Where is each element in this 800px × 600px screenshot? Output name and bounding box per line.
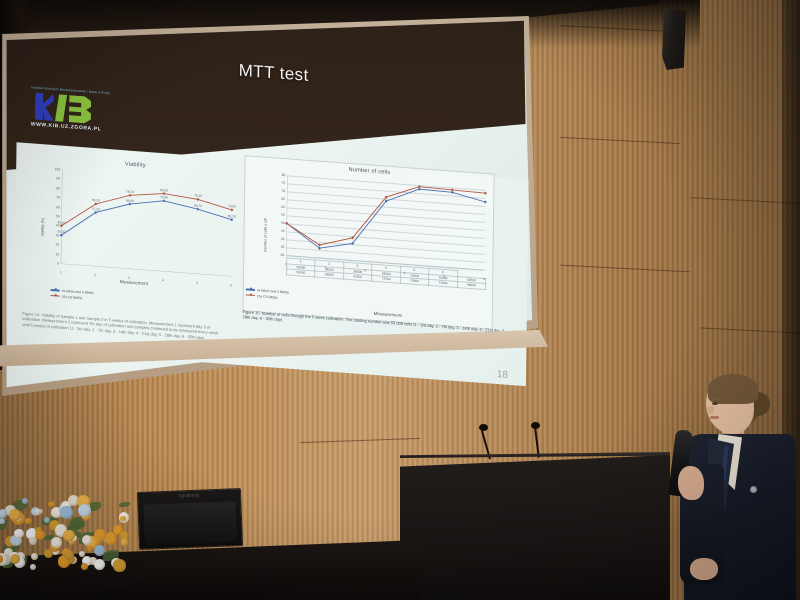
flower-bloom (25, 518, 31, 524)
flower-arrangement (0, 472, 134, 582)
legend-swatch-icon (51, 289, 60, 291)
chart-right-ylabel: Number of cells x 10³ (263, 218, 267, 252)
flower-bloom (51, 537, 62, 548)
data-point (128, 203, 131, 206)
chart-series-svg (286, 175, 485, 270)
monitor: iiyama (137, 488, 243, 550)
lapel-pin-icon (750, 486, 757, 493)
podium (400, 455, 670, 600)
table-cell: 71500 (429, 280, 457, 288)
monitor-screen (143, 501, 236, 545)
y-axis-tick: 30 (281, 253, 285, 257)
data-point (128, 194, 131, 197)
y-axis-tick: 90 (56, 177, 60, 181)
y-axis-tick: 20 (55, 242, 59, 246)
series-line (287, 177, 486, 257)
foliage (70, 521, 85, 531)
y-axis-tick: 60 (281, 205, 285, 209)
logo-mark (31, 90, 101, 125)
slide-number: 18 (497, 369, 508, 381)
eye (712, 402, 718, 405)
chart-left-legend: 4x fabric and 6 BMSc15x C6 BMSc (51, 288, 94, 302)
foliage (119, 502, 130, 507)
y-axis-tick: 55 (281, 213, 285, 217)
logo-letter-k-icon (35, 93, 54, 121)
y-axis-tick: 0 (57, 261, 59, 265)
y-axis-tick: 50 (56, 214, 60, 218)
data-point (230, 218, 233, 221)
flower-bloom (113, 559, 125, 571)
legend-label: 15x C6 BMSc (62, 294, 83, 300)
y-axis-tick: 35 (281, 245, 285, 249)
series-line (61, 193, 232, 248)
table-cell: 50000 (287, 269, 315, 277)
hand-holding-remote (690, 558, 718, 580)
y-axis-tick: 65 (281, 197, 285, 201)
lips (710, 416, 719, 419)
chart-viability: Viability Viability [%] 0102030405060708… (30, 151, 238, 316)
y-axis-tick: 60 (56, 205, 60, 209)
flower-bloom (50, 501, 55, 506)
y-axis-tick: 45 (281, 229, 285, 233)
chart-right-legend: 4x fabric and 6 BMSc15x C6 BMSc (246, 287, 289, 301)
y-axis-tick: 30 (56, 233, 60, 237)
y-axis-tick: 10 (55, 252, 59, 256)
flower-bloom (35, 530, 45, 540)
data-point (230, 208, 233, 211)
hand-holding-microphone (678, 466, 704, 500)
flower-bloom (60, 506, 73, 519)
chart-number-of-cells: Number of cells Number of cells x 10³ 30… (243, 155, 495, 330)
data-point (484, 192, 487, 195)
data-point (162, 199, 165, 202)
flower-bloom (31, 553, 38, 560)
flower-bloom (64, 550, 74, 560)
lecture-hall-photo: MTT test Instytut Inzynierii Bezpieczens… (0, 0, 800, 600)
microphone-head-icon (479, 424, 488, 431)
flower-bloom (10, 554, 20, 564)
table-cell: 42500 (343, 273, 371, 281)
microphone-head-icon (531, 422, 540, 429)
flower-bloom (38, 509, 43, 514)
data-point (196, 198, 199, 201)
chart-series-svg (61, 170, 232, 277)
chart-right-plot-area: 30354045505560657075801.2.3.4.5.6. (286, 175, 485, 270)
data-point (418, 185, 421, 188)
table-cell: 69000 (457, 282, 486, 290)
nose (707, 406, 714, 414)
chart-left-ylabel: Viability [%] (41, 218, 45, 237)
axis-lines (61, 170, 232, 277)
flower-bloom (30, 564, 36, 570)
flower-bloom (94, 559, 105, 570)
slide-title: MTT test (239, 61, 309, 86)
monitor-brand-label: iiyama (138, 491, 240, 501)
table-cell: 75000 (400, 277, 428, 285)
data-point (196, 208, 199, 211)
flower-bloom (105, 532, 117, 544)
y-axis-tick: 70 (56, 195, 60, 199)
y-axis-tick: 50 (281, 221, 285, 225)
flower-bloom (9, 509, 21, 521)
legend-label: 15x C6 BMSc (257, 294, 278, 300)
data-point (451, 188, 454, 191)
legend-swatch-icon (51, 295, 60, 297)
table-cell: 72500 (372, 275, 400, 283)
institution-logo: Instytut Inzynierii Bezpieczenstwa i Nau… (31, 85, 140, 135)
y-axis-tick: 75 (281, 181, 285, 185)
projection-screen: MTT test Instytut Inzynierii Bezpieczens… (0, 12, 560, 432)
y-axis-tick: 70 (281, 189, 285, 193)
flower-bloom (22, 498, 28, 504)
chart-right-title: Number of cells (245, 156, 493, 183)
axis-lines (286, 175, 485, 270)
legend-swatch-icon (246, 294, 255, 296)
logo-letter-i-icon (55, 94, 67, 121)
loudspeaker-icon (660, 8, 686, 70)
presenter (650, 368, 800, 600)
table-cell: 36500 (315, 271, 343, 279)
y-axis-tick: 40 (56, 224, 60, 228)
flower-bloom (82, 535, 92, 545)
flower-bloom (121, 538, 128, 545)
flower-bloom (81, 563, 88, 570)
legend-swatch-icon (246, 289, 255, 291)
flower-bloom (87, 546, 93, 552)
y-axis-tick: 40 (281, 237, 285, 241)
flower-bloom (14, 529, 23, 538)
y-axis-tick: 80 (282, 173, 286, 177)
flower-bloom (0, 509, 7, 517)
figure-14-caption: Figure 14. Viability of Sample 1 and Sam… (22, 311, 218, 342)
y-axis-tick: 100 (55, 167, 61, 171)
data-point (484, 200, 487, 203)
chart-left-plot-area: 010203040506070809010030,3057,2068,8074,… (61, 170, 232, 277)
y-axis-tick: 80 (56, 186, 60, 190)
logo-letter-b-icon (69, 95, 91, 124)
data-point (162, 192, 165, 195)
series-line (286, 179, 485, 260)
